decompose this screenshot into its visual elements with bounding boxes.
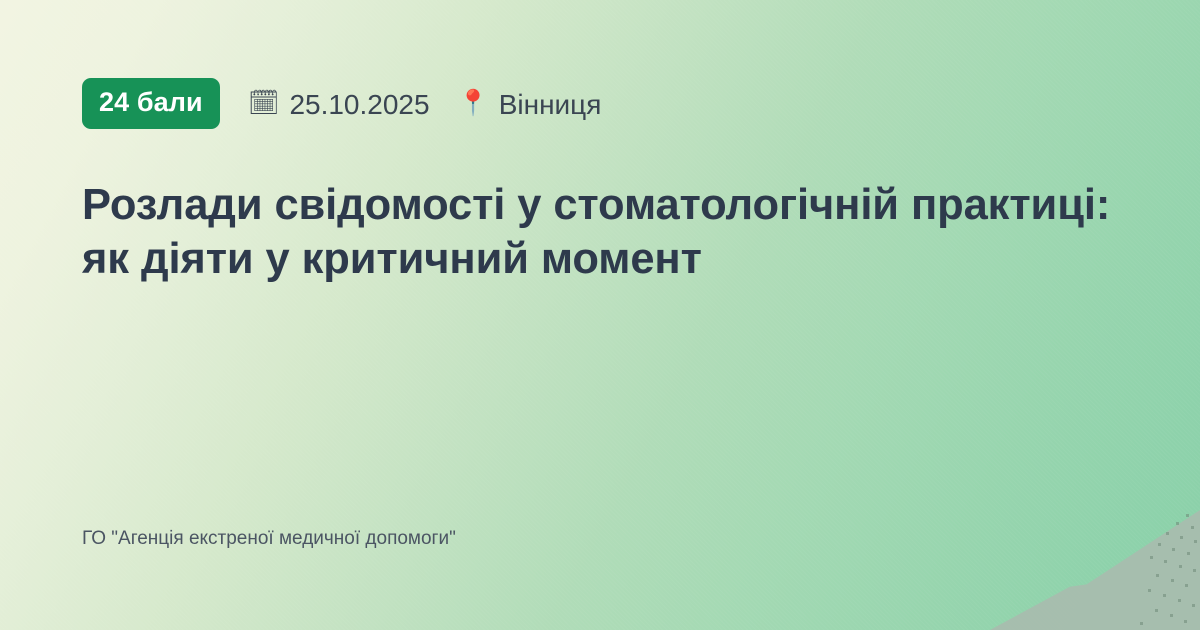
organizer-name: ГО "Агенція екстреної медичної допомоги" (82, 527, 456, 552)
event-announcement-card: 24 бали 🗓 25.10.2025 📍 Вінниця Розлади с… (0, 0, 1200, 630)
event-location: 📍 Вінниця (458, 90, 602, 118)
card-content: 24 бали 🗓 25.10.2025 📍 Вінниця Розлади с… (82, 0, 1140, 630)
event-location-value: Вінниця (499, 91, 602, 119)
event-date-value: 25.10.2025 (289, 91, 429, 119)
meta-row: 24 бали 🗓 25.10.2025 📍 Вінниця (82, 78, 601, 129)
location-pin-icon: 📍 (458, 91, 489, 116)
event-date: 🗓 25.10.2025 (248, 90, 430, 118)
calendar-icon: 🗓 (248, 91, 280, 116)
credits-badge: 24 бали (82, 78, 220, 129)
event-title: Розлади свідомості у стоматологічній пра… (82, 178, 1127, 286)
